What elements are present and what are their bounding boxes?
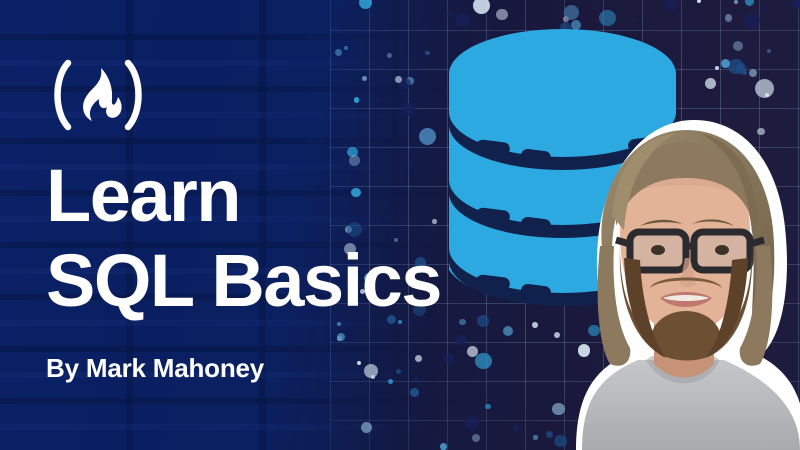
network-dot (733, 41, 743, 51)
network-dot (725, 14, 733, 22)
network-dot (533, 435, 537, 439)
network-dot (744, 13, 761, 30)
network-dot (745, 0, 754, 6)
text-content: Learn SQL Basics By Mark Mahoney (0, 0, 470, 450)
flame-in-brackets-icon (46, 58, 150, 132)
network-dot (633, 17, 637, 21)
network-dot (599, 10, 616, 27)
network-dot (705, 78, 716, 89)
network-dot (755, 79, 774, 98)
byline: By Mark Mahoney (46, 353, 470, 384)
presenter-photo (554, 98, 800, 450)
network-dot (513, 425, 518, 430)
video-thumbnail: Learn SQL Basics By Mark Mahoney (0, 0, 800, 450)
network-dot (728, 59, 743, 74)
network-dot (475, 353, 491, 369)
page-title: Learn SQL Basics (46, 160, 470, 317)
network-dot (503, 326, 513, 336)
network-dot (697, 0, 701, 3)
title-line-2: SQL Basics (46, 245, 470, 318)
network-dot (477, 315, 489, 327)
freecodecamp-logo (46, 58, 470, 132)
network-dot (564, 5, 579, 20)
network-dot (734, 0, 738, 4)
network-dot (749, 69, 757, 77)
network-dot (546, 431, 553, 438)
network-dot (767, 49, 771, 53)
network-dot (715, 66, 719, 70)
title-line-1: Learn (46, 154, 240, 237)
network-dot (473, 0, 490, 14)
network-dot (532, 322, 538, 328)
network-dot (792, 0, 800, 8)
network-dot (496, 9, 507, 20)
network-dot (664, 0, 677, 11)
network-dot (485, 404, 491, 410)
network-dot (472, 434, 481, 443)
